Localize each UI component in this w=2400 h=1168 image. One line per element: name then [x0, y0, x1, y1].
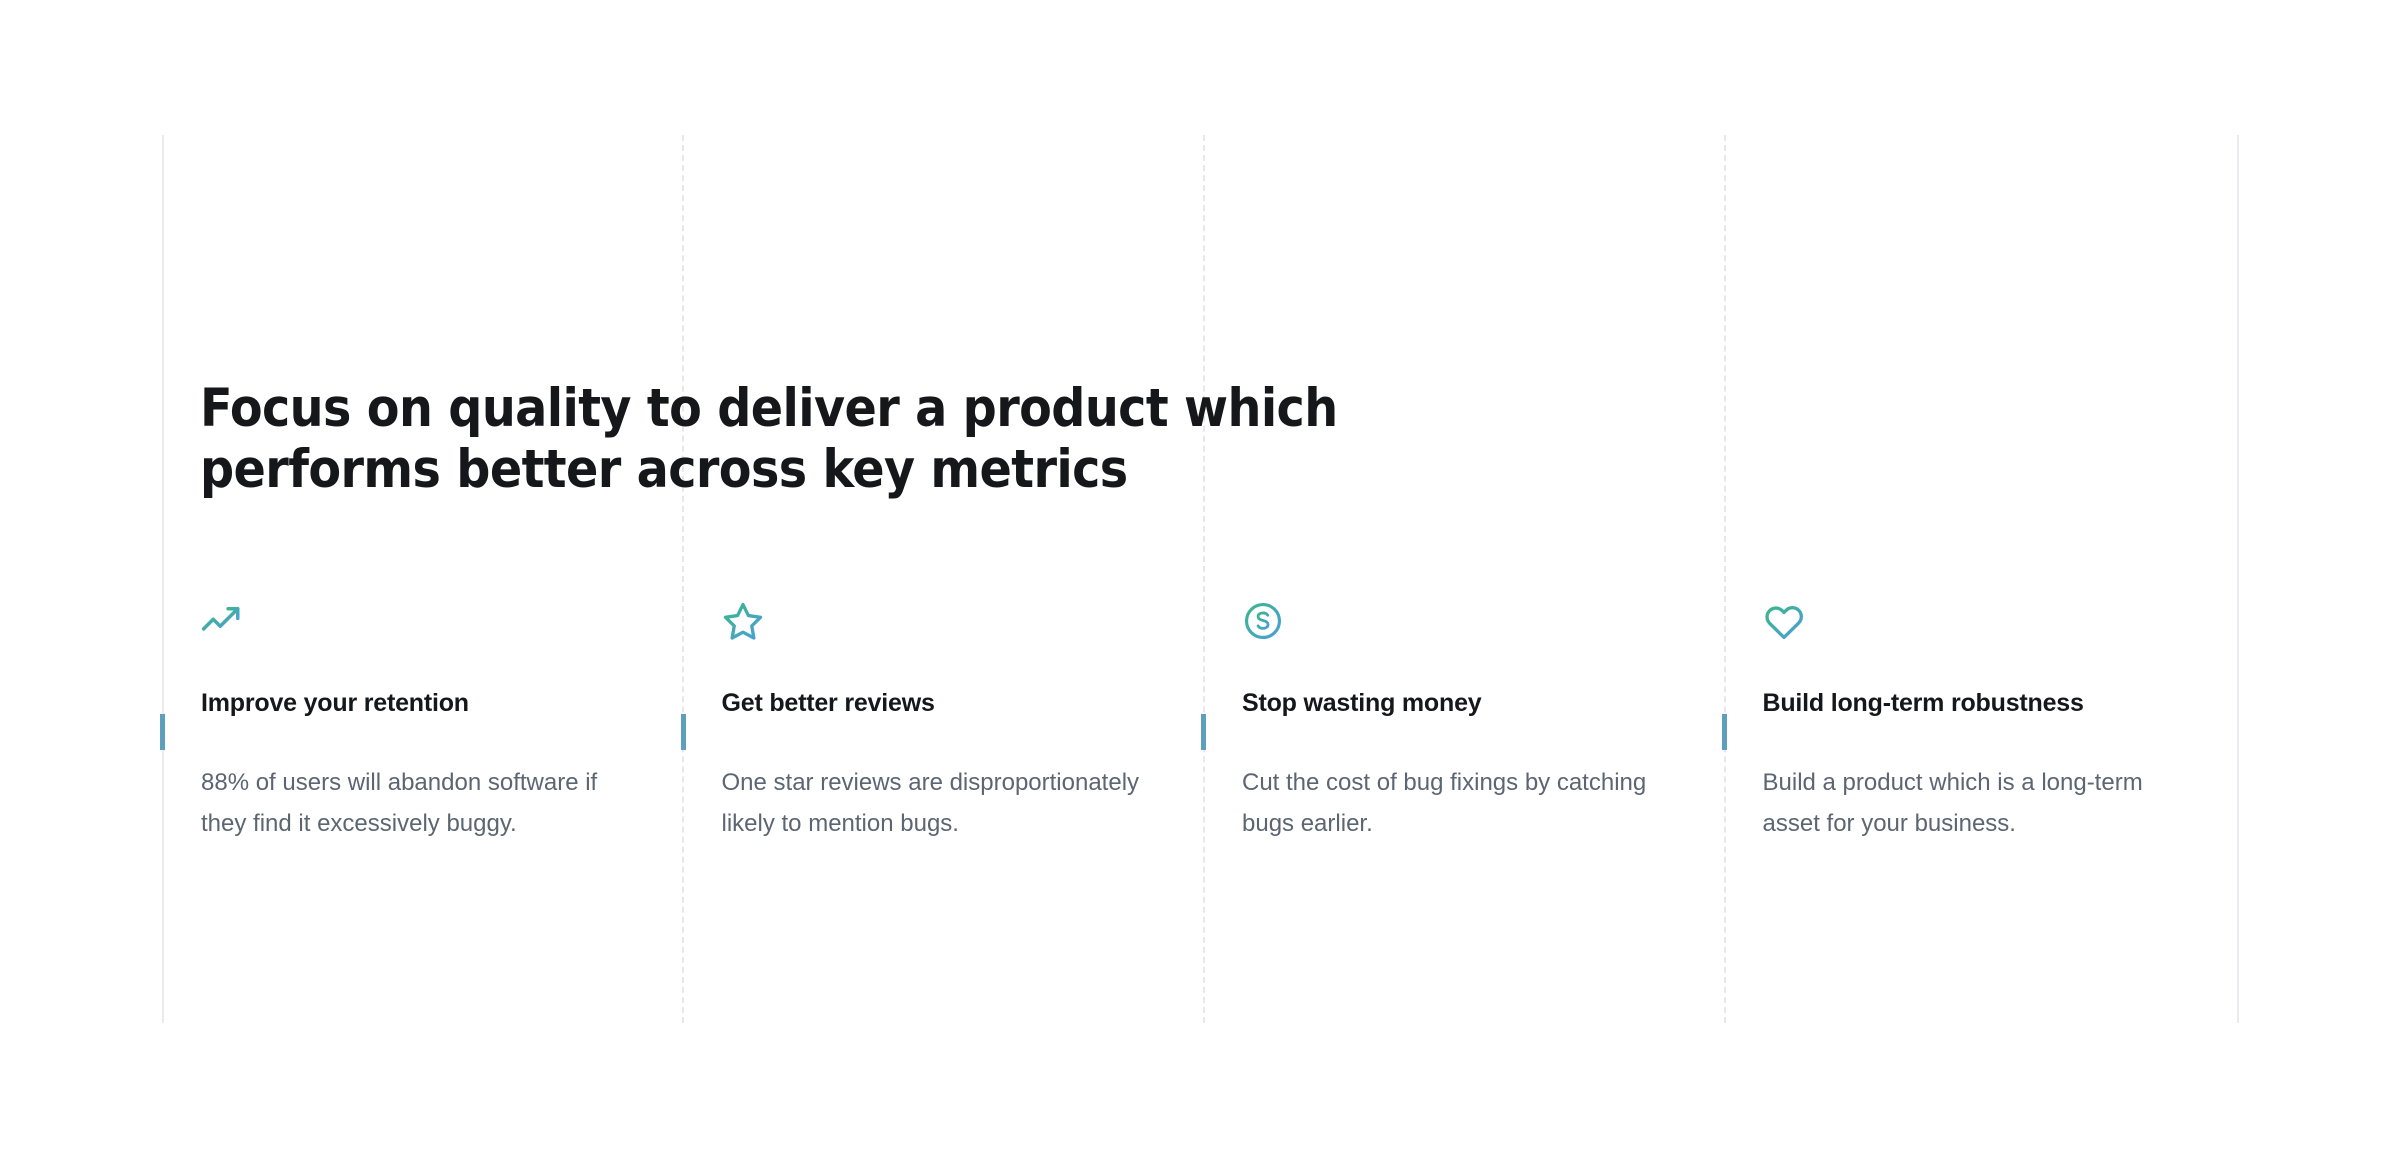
feature-title-1: Improve your retention: [201, 688, 637, 718]
column-divider-3: [1724, 135, 1726, 1023]
feature-column-2: Get better reviews One star reviews are …: [683, 600, 1204, 845]
column-rule-left: [162, 135, 164, 1023]
feature-title-4: Build long-term robustness: [1763, 688, 2191, 718]
feature-column-1: Improve your retention 88% of users will…: [162, 600, 683, 845]
title-accent-bar-2: [681, 714, 686, 750]
column-divider-1: [682, 135, 684, 1023]
section-heading: Focus on quality to deliver a product wh…: [200, 378, 1700, 501]
feature-column-4: Build long-term robustness Build a produ…: [1724, 600, 2237, 845]
feature-columns: Improve your retention 88% of users will…: [162, 600, 2237, 845]
title-accent-bar-4: [1722, 714, 1727, 750]
feature-body-2: One star reviews are disproportionately …: [722, 762, 1158, 845]
dollar-circle-icon: [1242, 600, 1284, 642]
feature-section: Focus on quality to deliver a product wh…: [0, 0, 2400, 1168]
heading-line-1: Focus on quality to deliver a product wh…: [200, 378, 1700, 439]
feature-title-2: Get better reviews: [722, 688, 1158, 718]
title-accent-bar-1: [160, 714, 165, 750]
star-icon: [722, 600, 764, 642]
column-divider-2: [1203, 135, 1205, 1023]
trending-up-icon: [201, 600, 243, 642]
feature-body-1: 88% of users will abandon software if th…: [201, 762, 637, 845]
feature-title-3: Stop wasting money: [1242, 688, 1678, 718]
column-rule-right: [2237, 135, 2239, 1023]
feature-body-4: Build a product which is a long-term ass…: [1763, 762, 2191, 845]
heart-icon: [1763, 600, 1805, 642]
title-accent-bar-3: [1201, 714, 1206, 750]
feature-body-3: Cut the cost of bug fixings by catching …: [1242, 762, 1678, 845]
feature-column-3: Stop wasting money Cut the cost of bug f…: [1203, 600, 1724, 845]
heading-line-2: performs better across key metrics: [200, 439, 1700, 500]
